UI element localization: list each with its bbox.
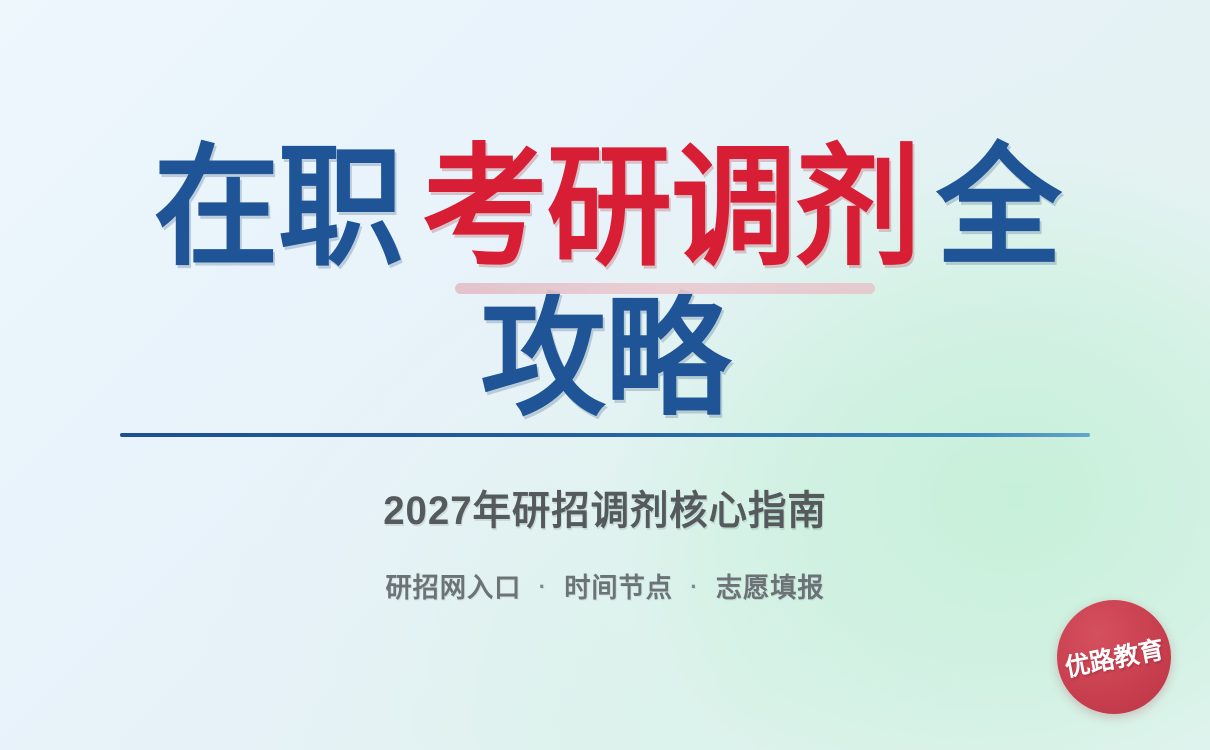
headline-segment-red: 考研调剂 (422, 142, 920, 274)
tagline-separator-2: · (690, 574, 698, 600)
tagline-item-1: 研招网入口 (385, 566, 521, 605)
subtitle: 2027年研招调剂核心指南 (24, 478, 1186, 536)
headline: 在职考研调剂全 攻略 (0, 142, 1210, 410)
headline-segment-blue-1: 在职 (153, 142, 402, 274)
divider-rule (120, 433, 1090, 437)
headline-line-1: 在职考研调剂全 (0, 142, 1210, 282)
tagline-separator-1: · (539, 574, 547, 600)
tagline: 研招网入口·时间节点·志愿填报 (18, 566, 1192, 605)
brand-badge: 优路教育 (1057, 600, 1171, 714)
tagline-item-2: 时间节点 (564, 566, 673, 605)
headline-segment-blue-2: 全 (936, 142, 1060, 274)
headline-segment-blue-3: 攻略 (481, 292, 730, 424)
brand-badge-label: 优路教育 (1061, 630, 1166, 684)
headline-underline-bar (455, 283, 875, 294)
poster-canvas: 在职考研调剂全 攻略 2027年研招调剂核心指南 研招网入口·时间节点·志愿填报… (0, 0, 1210, 750)
headline-line-2: 攻略 (0, 292, 1210, 410)
tagline-item-3: 志愿填报 (716, 566, 825, 605)
